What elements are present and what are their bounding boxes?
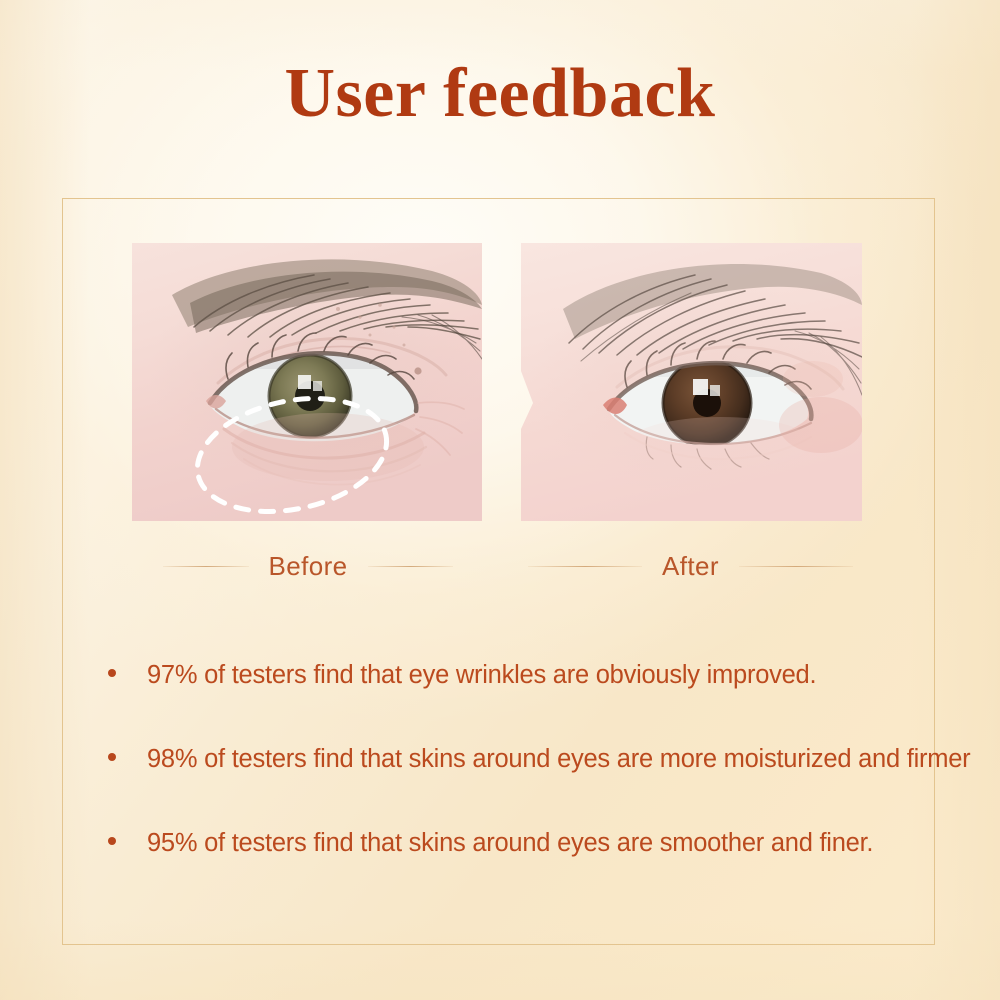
caption-divider-left bbox=[163, 566, 249, 567]
promo-page: User feedback bbox=[0, 0, 1000, 1000]
result-text: 97% of testers find that eye wrinkles ar… bbox=[147, 660, 938, 691]
result-text: 98% of testers find that skins around ey… bbox=[147, 744, 970, 775]
before-label: Before bbox=[249, 551, 368, 582]
results-list: 97% of testers find that eye wrinkles ar… bbox=[108, 660, 938, 912]
list-item: 98% of testers find that skins around ey… bbox=[108, 744, 938, 828]
after-caption-group: After bbox=[528, 548, 853, 584]
bullet-dot-icon bbox=[108, 837, 116, 845]
result-text: 95% of testers find that skins around ey… bbox=[147, 828, 938, 859]
bullet-dot-icon bbox=[108, 669, 116, 677]
caption-divider-left bbox=[528, 566, 642, 567]
before-caption-group: Before bbox=[163, 548, 453, 584]
caption-row: Before After bbox=[0, 548, 1000, 584]
list-item: 95% of testers find that skins around ey… bbox=[108, 828, 938, 912]
list-item: 97% of testers find that eye wrinkles ar… bbox=[108, 660, 938, 744]
bullet-dot-icon bbox=[108, 753, 116, 761]
after-label: After bbox=[642, 551, 739, 582]
caption-divider-right bbox=[368, 566, 454, 567]
page-title: User feedback bbox=[0, 55, 1000, 132]
caption-divider-right bbox=[739, 566, 853, 567]
